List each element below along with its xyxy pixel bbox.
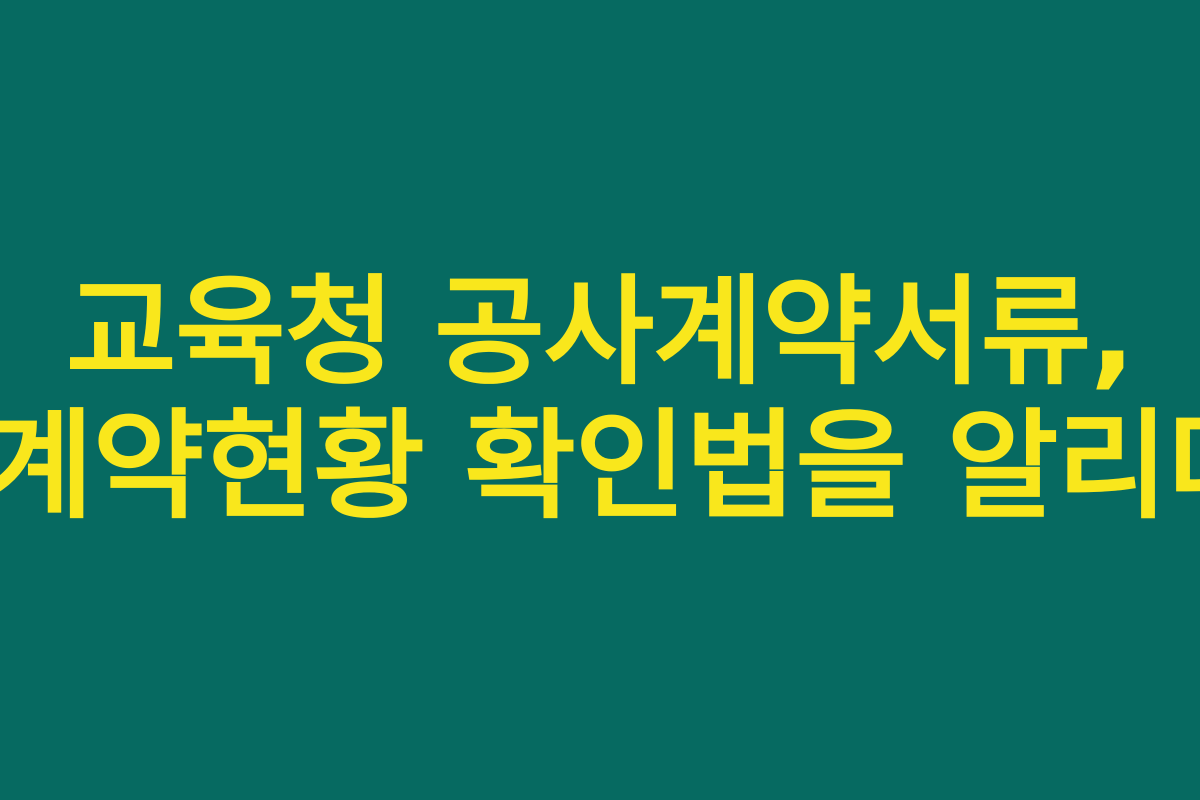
title-card-banner: 교육청 공사계약서류, 계약현황 확인법을 알리다	[0, 0, 1200, 800]
page-title: 교육청 공사계약서류, 계약현황 확인법을 알리다	[0, 273, 1200, 525]
title-line-2: 계약현황 확인법을 알리다	[0, 407, 1200, 525]
title-line-1: 교육청 공사계약서류,	[0, 273, 1200, 391]
